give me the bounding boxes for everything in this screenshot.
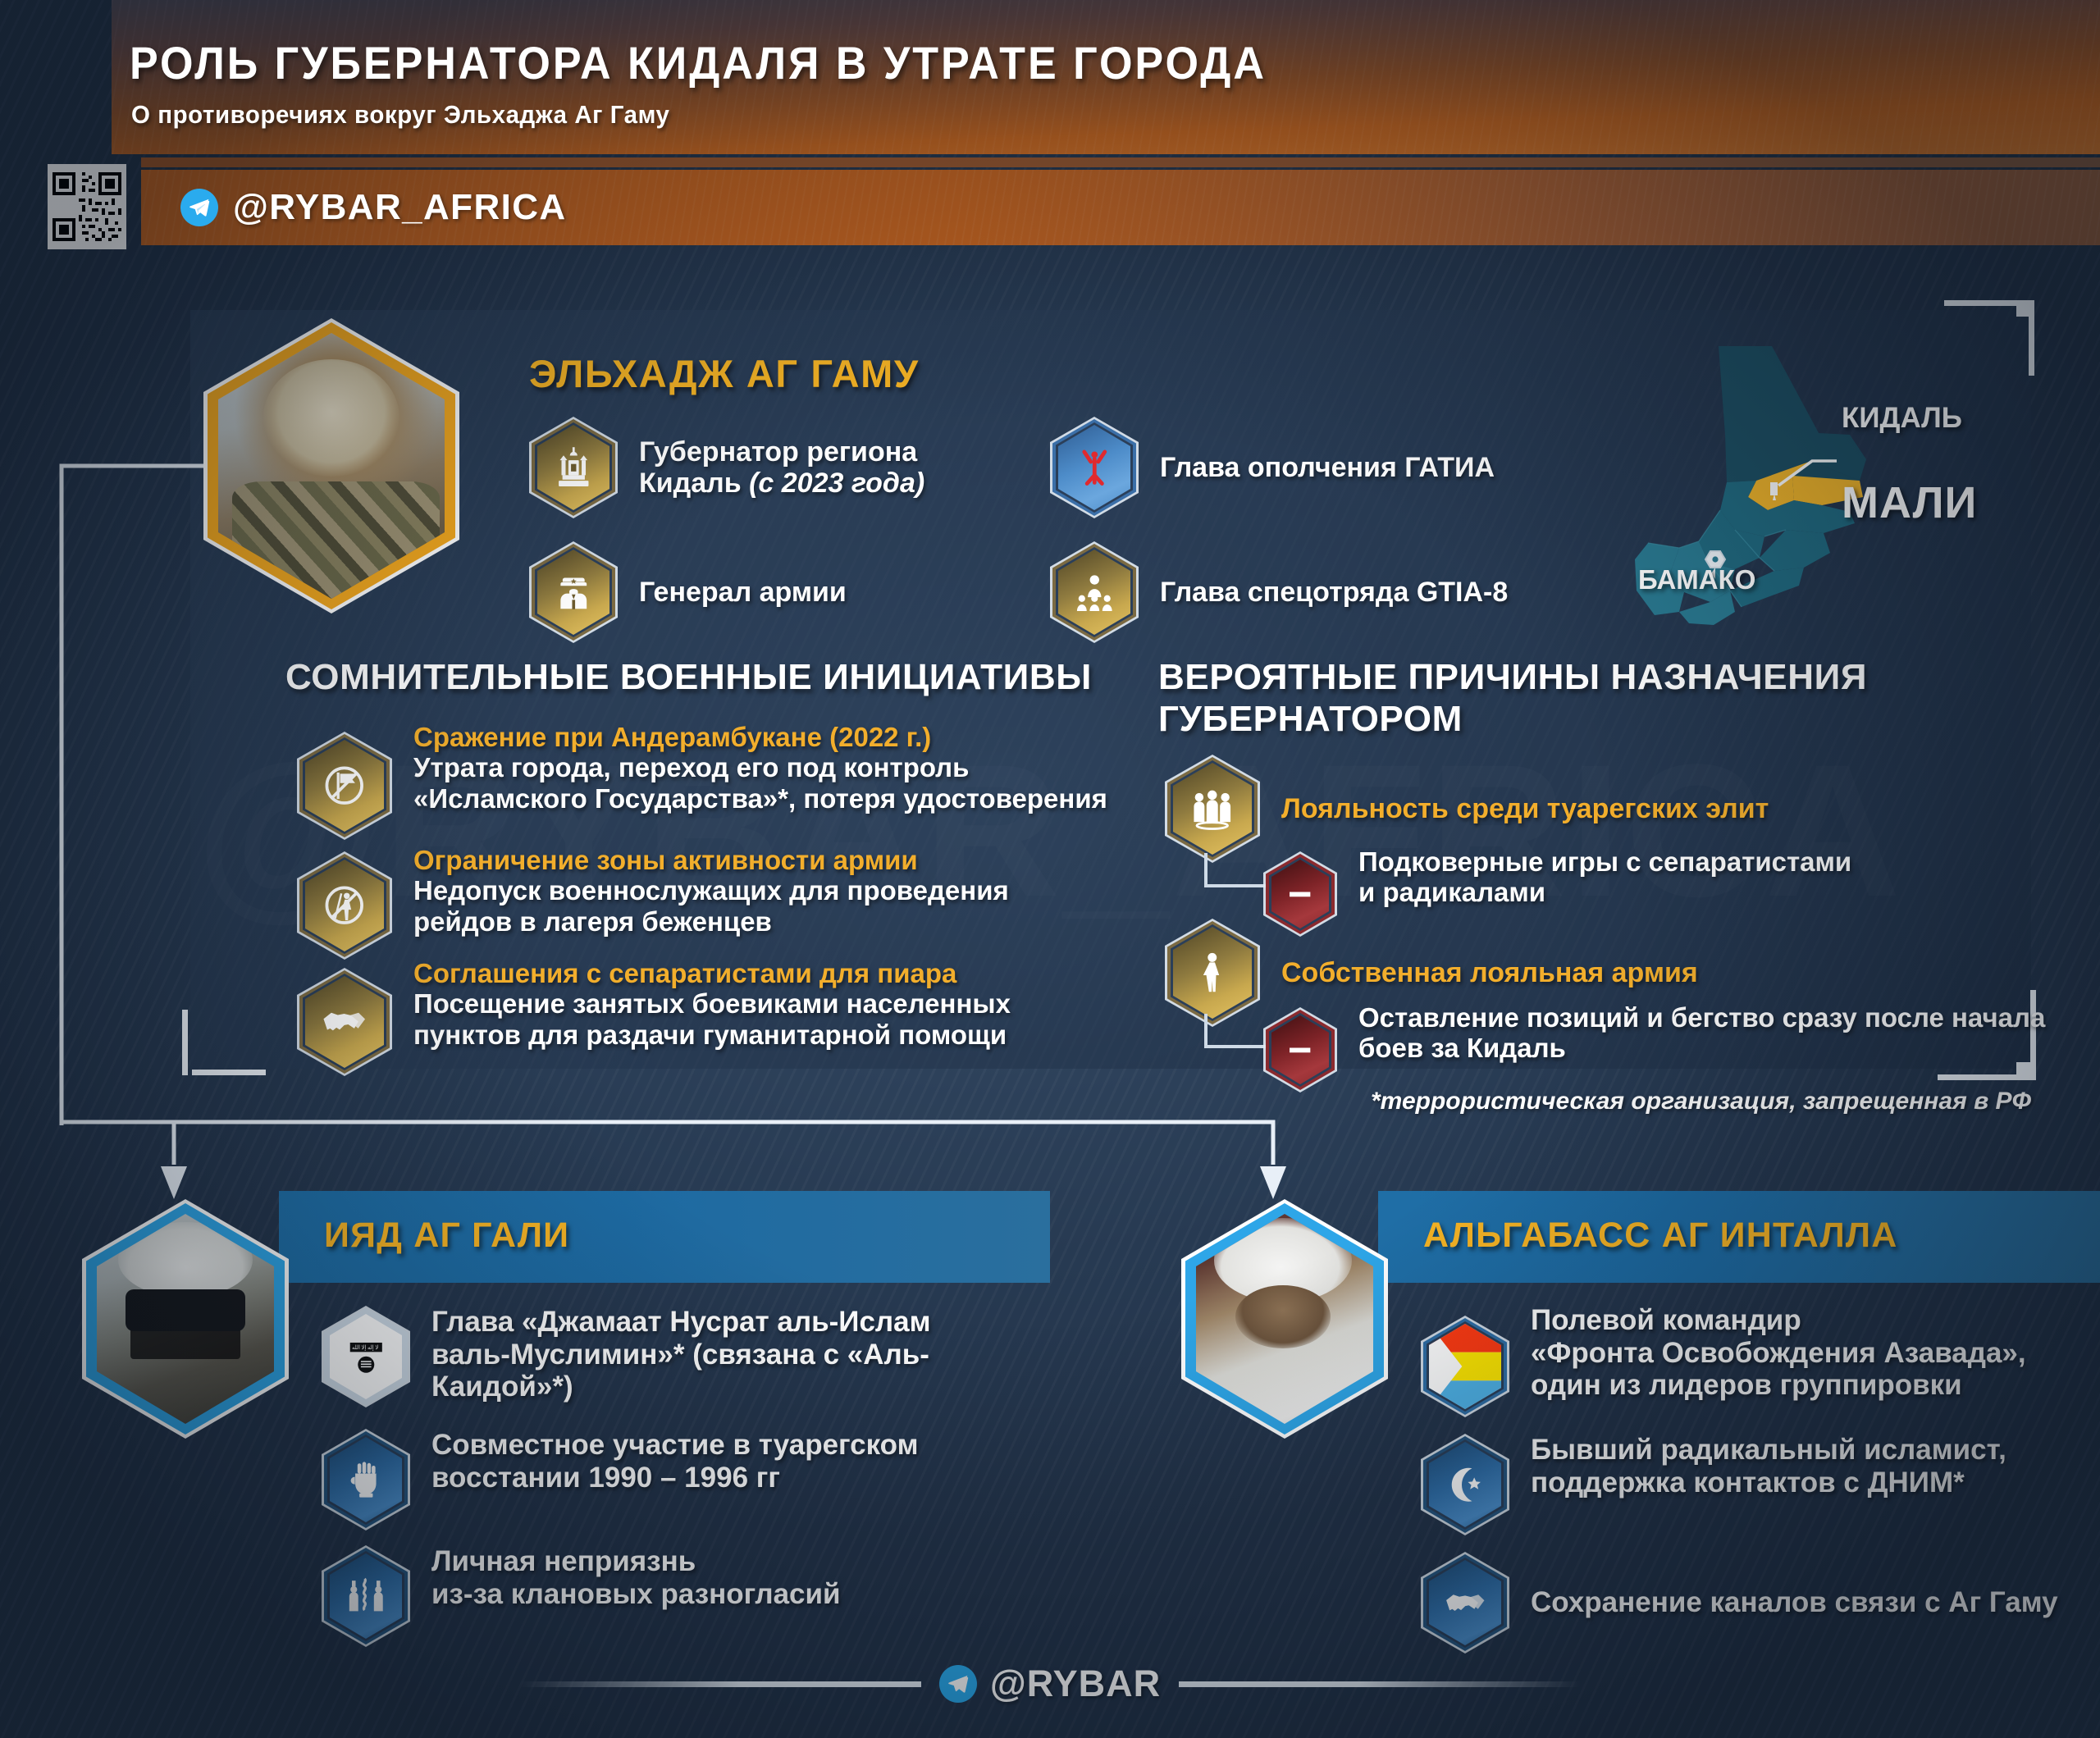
no-flag-icon bbox=[297, 732, 392, 840]
page-subtitle: О противоречиях вокруг Эльхаджа Аг Гаму bbox=[131, 100, 670, 130]
initiative-row-anderamboukane: Сражение при Андерамбукане (2022 г.) Утр… bbox=[297, 722, 1107, 840]
telegram-handle: @RYBAR_AFRICA bbox=[233, 187, 567, 228]
handshake-icon bbox=[297, 968, 392, 1076]
jnim-black-banner-icon: لا إله إلا الله bbox=[322, 1306, 410, 1407]
raised-fist-icon bbox=[322, 1429, 410, 1530]
brand-bar-topstripe bbox=[141, 157, 2100, 167]
header-banner: РОЛЬ ГУБЕРНАТОРА КИДАЛЯ В УТРАТЕ ГОРОДА … bbox=[112, 0, 2100, 154]
mali-map: МАЛИ БАМАКО КИДАЛЬ bbox=[1604, 336, 2100, 632]
card-fact-row-former-islamist: Бывший радикальный исламист, поддержка к… bbox=[1421, 1434, 2006, 1535]
portrait-elhadj-ag-gamou bbox=[203, 318, 459, 614]
card-fact-row-channels-with-gamou: Сохранение каналов связи с Аг Гаму bbox=[1421, 1552, 2058, 1654]
qr-code[interactable] bbox=[48, 164, 126, 249]
role-row-governor: Губернатор региона Кидаль (с 2023 года) bbox=[529, 417, 924, 518]
initiative-line2: пунктов для раздачи гуманитарной помощи bbox=[413, 1020, 1007, 1050]
card-fact-line3: один из лидеров группировки bbox=[1531, 1369, 1962, 1401]
role-row-general: Генерал армии bbox=[529, 541, 847, 643]
reason-title: Собственная лояльная армия bbox=[1281, 957, 1698, 988]
section-heading-military-initiatives: СОМНИТЕЛЬНЫЕ ВОЕННЫЕ ИНИЦИАТИВЫ bbox=[285, 656, 1122, 698]
section-heading-appointment-reasons: ВЕРОЯТНЫЕ ПРИЧИНЫ НАЗНАЧЕНИЯ ГУБЕРНАТОРО… bbox=[1158, 656, 2044, 740]
card-fact-line2: из-за клановых разногласий bbox=[431, 1578, 841, 1610]
reason-sub-line2: боев за Кидаль bbox=[1358, 1033, 1566, 1063]
role-text-gtia8: Глава спецотряда GTIA-8 bbox=[1160, 577, 1508, 608]
person-name-title: ЭЛЬХАДЖ АГ ГАМУ bbox=[529, 351, 920, 396]
card-name: ИЯД АГ ГАЛИ bbox=[324, 1216, 569, 1256]
card-alghabass-ag-intalla: АЛЬГАБАСС АГ ИНТАЛЛА Полевой командир «Ф… bbox=[1181, 1191, 2100, 1585]
footnote-text: *террористическая организация, запрещенн… bbox=[1371, 1088, 2031, 1115]
initiative-line1: Посещение занятых боевиками населенных bbox=[413, 988, 1011, 1019]
initiative-line1: Утрата города, переход его под контроль bbox=[413, 752, 969, 782]
reason-sub-row-abandoned-positions: Оставление позиций и бегство сразу после… bbox=[1263, 1002, 2045, 1093]
map-label-bamako: БАМАКО bbox=[1638, 564, 1755, 595]
initiative-line2: рейдов в лагеря беженцев bbox=[413, 906, 772, 937]
initiative-line2: «Исламского Государства»*, потеря удосто… bbox=[413, 783, 1107, 814]
minus-sign-icon bbox=[1263, 1007, 1337, 1093]
card-fact-line1: Глава «Джамаат Нусрат аль-Ислам bbox=[431, 1306, 931, 1338]
card-fact-line2: валь-Муслимин»* (связана с «Аль-Каидой»*… bbox=[431, 1339, 929, 1403]
card-fact-line1: Полевой командир bbox=[1531, 1304, 1801, 1336]
footer-handle: @RYBAR bbox=[990, 1663, 1161, 1705]
card-fact-line2: восстании 1990 – 1996 гг bbox=[431, 1462, 780, 1494]
card-fact-line2: «Фронта Освобождения Азавада», bbox=[1531, 1337, 2026, 1369]
role-text-gatia: Глава ополчения ГАТИА bbox=[1160, 452, 1495, 483]
map-label-mali: МАЛИ bbox=[1842, 477, 1977, 528]
page-title: РОЛЬ ГУБЕРНАТОРА КИДАЛЯ В УТРАТЕ ГОРОДА bbox=[130, 36, 1267, 89]
portrait-alghabass-ag-intalla bbox=[1181, 1199, 1388, 1439]
card-fact-line1: Бывший радикальный исламист, bbox=[1531, 1434, 2006, 1466]
card-fact-line1: Совместное участие в туарегском bbox=[431, 1429, 919, 1461]
three-people-icon bbox=[1165, 755, 1260, 863]
role-row-gtia8: Глава спецотряда GTIA-8 bbox=[1050, 541, 1508, 643]
reason-title: Лояльность среди туарегских элит bbox=[1281, 793, 1769, 824]
footer: @RYBAR bbox=[0, 1655, 2100, 1713]
role-text-line1: Губернатор региона bbox=[639, 436, 917, 468]
role-text-italic: (с 2023 года) bbox=[749, 468, 924, 499]
initiative-line1: Недопуск военнослужащих для проведения bbox=[413, 875, 1009, 905]
handshake-blue-icon bbox=[1421, 1552, 1509, 1654]
crescent-star-icon bbox=[1421, 1434, 1509, 1535]
card-iyad-ag-ghaly: ИЯД АГ ГАЛИ لا إله إلا الله Глава «Джама… bbox=[82, 1191, 1050, 1585]
role-row-gatia: Глава ополчения ГАТИА bbox=[1050, 417, 1495, 518]
footer-divider-left bbox=[519, 1681, 921, 1687]
card-fact-row-jnim: لا إله إلا الله Глава «Джамаат Нусрат ал… bbox=[322, 1306, 1050, 1407]
map-label-kidal: КИДАЛЬ bbox=[1842, 402, 1962, 435]
section-heading-line1: ВЕРОЯТНЫЕ ПРИЧИНЫ НАЗНАЧЕНИЯ bbox=[1158, 657, 1867, 697]
general-officer-icon bbox=[529, 541, 618, 643]
reason-sub-line1: Оставление позиций и бегство сразу после… bbox=[1358, 1002, 2045, 1033]
telegram-icon bbox=[939, 1665, 977, 1703]
card-fact-line2: поддержка контактов с ДНИМ* bbox=[1531, 1467, 1965, 1499]
telegram-icon bbox=[180, 189, 218, 226]
reason-sub-line1: Подковерные игры с сепаратистами bbox=[1358, 846, 1851, 877]
azawad-flag-icon bbox=[1421, 1316, 1509, 1417]
initiative-row-separatist-agreements: Соглашения с сепаратистами для пиара Пос… bbox=[297, 958, 1011, 1076]
footer-divider-right bbox=[1179, 1681, 1581, 1687]
card-fact-line1: Личная неприязнь bbox=[431, 1545, 696, 1577]
telegram-brand-bar[interactable]: @RYBAR_AFRICA bbox=[141, 170, 2100, 245]
single-soldier-icon bbox=[1165, 919, 1260, 1027]
no-soldier-icon bbox=[297, 851, 392, 960]
initiative-title: Ограничение зоны активности армии bbox=[413, 845, 918, 875]
two-people-conflict-icon bbox=[322, 1545, 410, 1647]
initiative-title: Соглашения с сепаратистами для пиара bbox=[413, 958, 956, 988]
card-name: АЛЬГАБАСС АГ ИНТАЛЛА bbox=[1423, 1216, 1898, 1256]
section-heading-line2: ГУБЕРНАТОРОМ bbox=[1158, 699, 1463, 739]
government-building-icon bbox=[529, 417, 618, 518]
portrait-iyad-ag-ghaly bbox=[82, 1199, 289, 1439]
card-fact-row-azawad-commander: Полевой командир «Фронта Освобождения Аз… bbox=[1421, 1304, 2026, 1417]
initiative-title: Сражение при Андерамбукане (2022 г.) bbox=[413, 722, 931, 752]
svg-text:لا إله إلا الله: لا إله إلا الله bbox=[352, 1344, 378, 1351]
card-fact-row-tuareg-uprising: Совместное участие в туарегском восстани… bbox=[322, 1429, 919, 1530]
role-text-general: Генерал армии bbox=[639, 577, 847, 608]
corner-bracket-bottom-left bbox=[182, 1010, 264, 1075]
special-unit-group-icon bbox=[1050, 541, 1139, 643]
role-text-line2: Кидаль bbox=[639, 468, 749, 499]
tuareg-tifinagh-icon bbox=[1050, 417, 1139, 518]
card-fact-line1: Сохранение каналов связи с Аг Гаму bbox=[1531, 1586, 2058, 1618]
reason-sub-line2: и радикалами bbox=[1358, 877, 1545, 907]
card-fact-row-personal-animosity: Личная неприязнь из-за клановых разногла… bbox=[322, 1545, 841, 1647]
initiative-row-army-restriction: Ограничение зоны активности армии Недопу… bbox=[297, 845, 1009, 960]
